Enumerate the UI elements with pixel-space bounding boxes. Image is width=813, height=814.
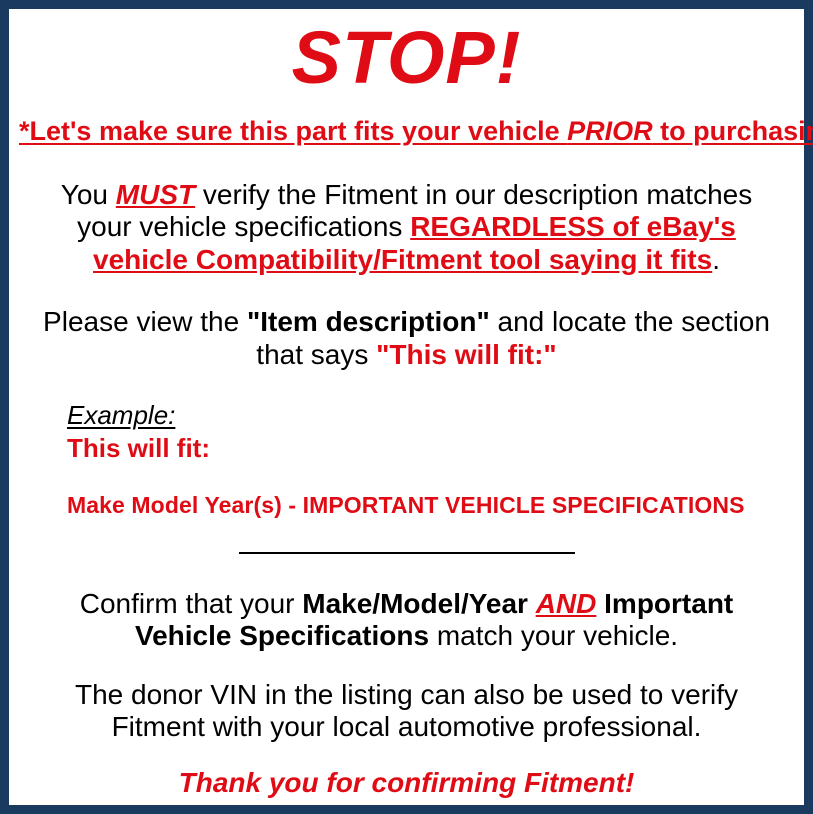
- horizontal-divider: [239, 552, 575, 554]
- confirm-part-4: match your vehicle.: [429, 620, 678, 651]
- paragraph-donor-vin: The donor VIN in the listing can also be…: [19, 653, 794, 744]
- page-title: STOP!: [19, 9, 794, 95]
- confirm-part-3: [596, 588, 604, 619]
- example-spec-line: Make Model Year(s) - IMPORTANT VEHICLE S…: [67, 492, 794, 518]
- example-block: Example: This will fit: Make Model Year(…: [19, 371, 794, 518]
- description-emphasis-item-description: "Item description": [247, 306, 490, 337]
- subtitle-emphasis-prior: PRIOR: [567, 116, 653, 146]
- thank-you-message: Thank you for confirming Fitment!: [19, 744, 794, 799]
- confirm-part-2: [528, 588, 536, 619]
- confirm-emphasis-make-model-year: Make/Model/Year: [302, 588, 528, 619]
- fitment-notice-card: STOP! *Let's make sure this part fits yo…: [0, 0, 813, 814]
- example-fits-heading: This will fit:: [67, 434, 794, 464]
- divider-wrapper: [19, 518, 794, 562]
- example-label-wrap: Example:: [67, 401, 794, 430]
- confirm-part-1: Confirm that your: [80, 588, 303, 619]
- must-emphasis-must: MUST: [116, 179, 195, 210]
- example-label: Example:: [67, 401, 175, 430]
- must-part-3: .: [712, 244, 720, 275]
- notice-inner-content: STOP! *Let's make sure this part fits yo…: [9, 9, 804, 805]
- subtitle-suffix: to purchasing*: [653, 116, 813, 146]
- description-part-1: Please view the: [43, 306, 247, 337]
- paragraph-must-verify: You MUST verify the Fitment in our descr…: [19, 147, 794, 276]
- description-emphasis-this-will-fit: "This will fit:": [376, 339, 557, 370]
- paragraph-confirm: Confirm that your Make/Model/Year AND Im…: [19, 562, 794, 653]
- subtitle-prefix: *Let's make sure this part fits your veh…: [19, 116, 567, 146]
- subtitle-warning: *Let's make sure this part fits your veh…: [19, 95, 794, 147]
- paragraph-item-description: Please view the "Item description" and l…: [19, 276, 794, 371]
- confirm-emphasis-and: AND: [536, 588, 597, 619]
- must-part-1: You: [61, 179, 116, 210]
